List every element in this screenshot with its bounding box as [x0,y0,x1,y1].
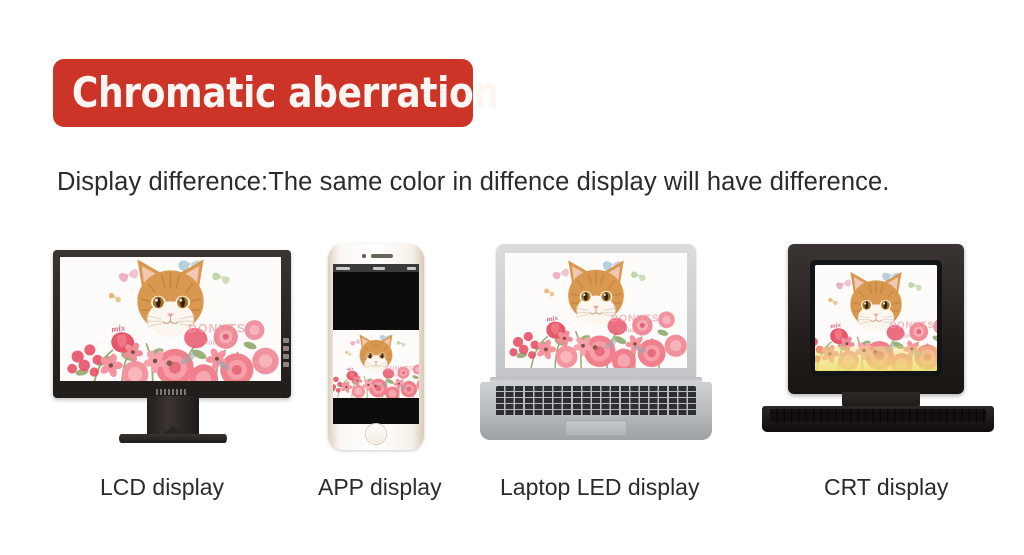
status-carrier [336,267,350,270]
laptop-lid: mix DONUTS Salad [496,244,696,379]
svg-text:Salad: Salad [618,325,635,334]
artwork-lcd: mix DONUTS Salad [60,257,281,381]
title-banner: Chromatic aberration [53,59,473,127]
page-root: Chromatic aberration Display difference:… [0,0,1024,555]
phone-home-button[interactable] [365,423,387,445]
svg-text:mix: mix [111,322,127,334]
caption-crt: CRT display [824,474,948,501]
caption-lcd: LCD display [100,474,224,501]
lcd-button-2[interactable] [283,346,289,351]
device-row: mix DONUTS Salad [0,240,1024,460]
lcd-bezel: mix DONUTS Salad [53,250,291,398]
caption-app: APP display [318,474,442,501]
lcd-control-buttons[interactable] [283,338,289,367]
device-app: mix DONUTS Salad [312,240,440,460]
crt-keyboard[interactable] [762,406,994,432]
phone-screen[interactable]: mix DONUTS Salad [333,264,419,424]
svg-text:mix: mix [546,313,559,324]
svg-text:DONUTS: DONUTS [385,367,414,373]
subtitle-text: Display difference:The same color in dif… [57,168,889,197]
phone-body: mix DONUTS Salad [328,244,424,450]
device-crt: mix DONUTS Salad [758,240,1003,460]
phone-speaker-icon [371,254,393,258]
crt-keyboard-keys[interactable] [770,409,986,422]
crt-screen: mix DONUTS Salad [815,265,937,371]
artwork-app-canvas: mix DONUTS Salad [333,330,419,398]
svg-text:DONUTS: DONUTS [890,319,935,330]
lcd-brand-logo [156,389,188,395]
lcd-button-3[interactable] [283,354,289,359]
laptop-screen: mix DONUTS Salad [505,253,687,368]
lcd-button-1[interactable] [283,338,289,343]
laptop-trackpad[interactable] [565,420,627,436]
caption-laptop: Laptop LED display [500,474,699,501]
laptop-base [480,382,712,440]
device-laptop: mix DONUTS Salad [478,240,714,460]
svg-text:Salad: Salad [897,333,913,340]
status-time [373,267,385,270]
lcd-power-button[interactable] [283,362,289,367]
page-title: Chromatic aberration [53,72,499,114]
crt-body: mix DONUTS Salad [788,244,964,394]
svg-text:DONUTS: DONUTS [611,314,660,325]
crt-inner-bezel: mix DONUTS Salad [810,260,942,376]
svg-text:Salad: Salad [389,373,400,378]
phone-camera-icon [362,254,366,258]
phone-status-bar [333,264,419,272]
battery-icon [407,267,416,270]
crt-yellow-tint [815,346,937,371]
artwork-laptop: mix DONUTS Salad [505,253,687,368]
svg-text:Salad: Salad [197,336,218,346]
laptop-keyboard[interactable] [496,386,696,416]
lcd-stand-base [119,434,227,443]
artwork-app: mix DONUTS Salad [333,330,419,398]
device-lcd: mix DONUTS Salad [45,240,300,460]
lcd-screen: mix DONUTS Salad [60,257,281,381]
svg-text:DONUTS: DONUTS [188,321,246,335]
